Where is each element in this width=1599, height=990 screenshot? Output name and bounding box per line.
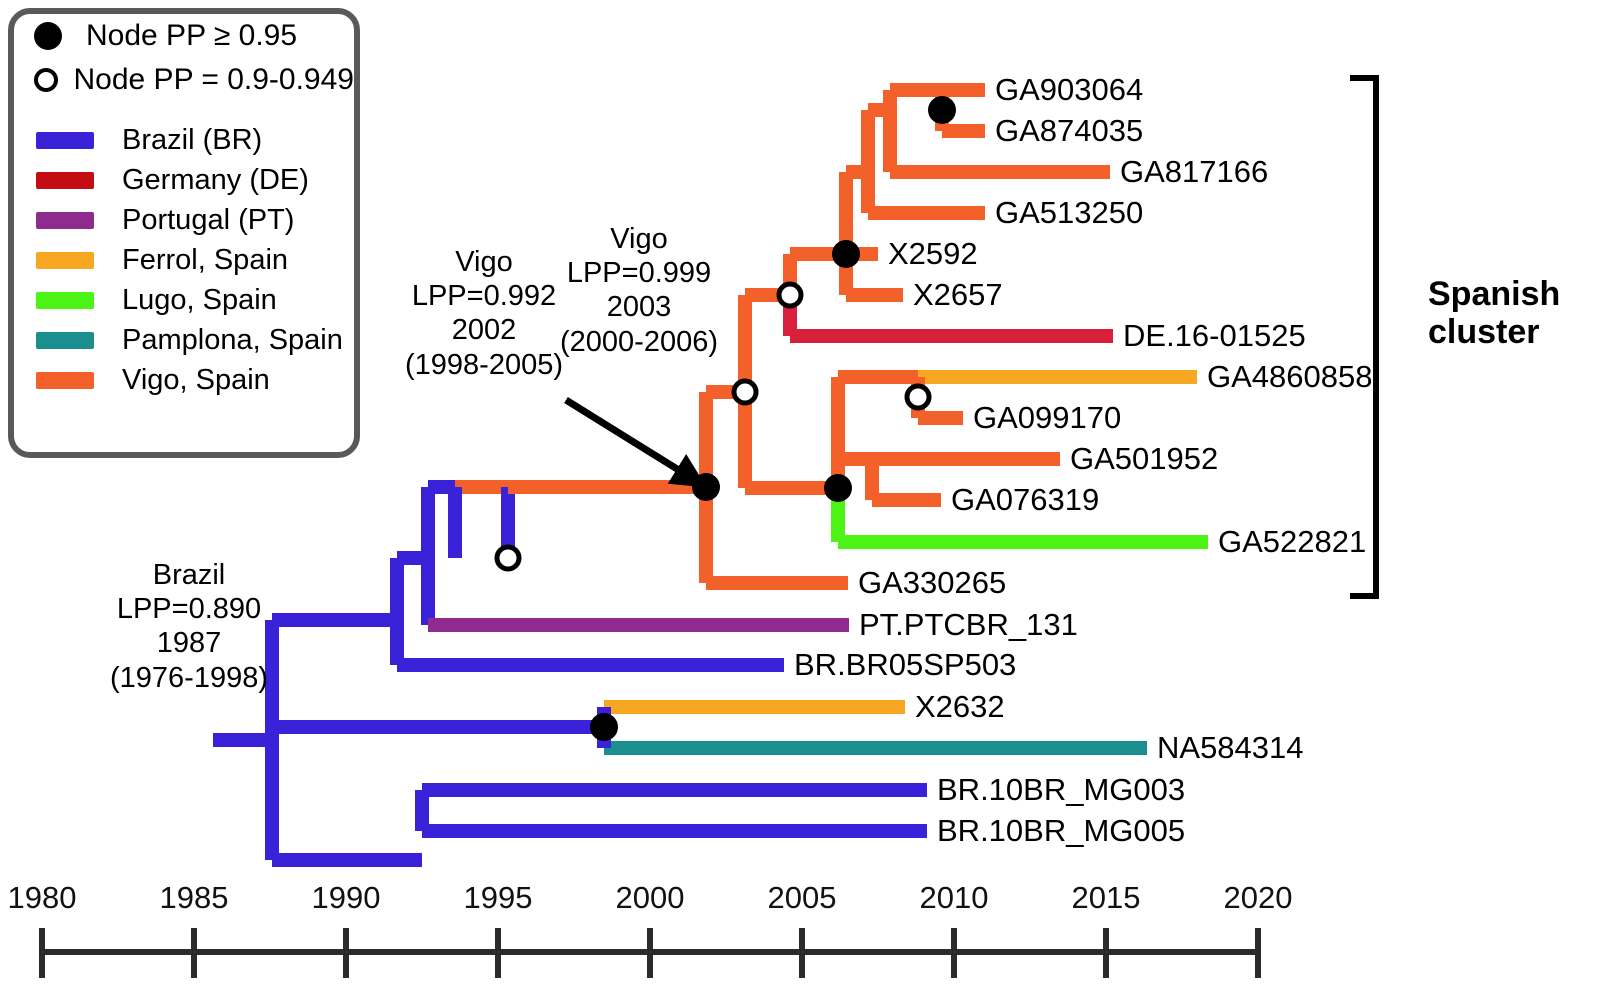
annotation-line: LPP=0.992 [405, 279, 563, 313]
legend-color-swatch [36, 372, 94, 389]
tip-label-GA522821: GA522821 [1218, 526, 1366, 557]
spanish-cluster-label: Spanishcluster [1428, 275, 1560, 351]
node-support-filled-icon [692, 473, 720, 501]
open-circle-icon [34, 68, 74, 92]
node-support-open-icon [779, 284, 801, 306]
legend-color-label: Vigo, Spain [122, 364, 270, 397]
tip-label-GA903064: GA903064 [995, 74, 1143, 105]
node-support-filled-icon [832, 240, 860, 268]
annotation-line: Vigo [560, 222, 718, 256]
cluster-label-line: cluster [1428, 313, 1560, 351]
annotation-line: LPP=0.890 [110, 592, 268, 626]
legend-color-row: Lugo, Spain [14, 280, 354, 320]
legend-node-label-open: Node PP = 0.9-0.949 [74, 63, 355, 97]
time-axis-tick-label: 2020 [1213, 880, 1303, 916]
legend-color-row: Vigo, Spain [14, 360, 354, 400]
legend-color-swatch [36, 172, 94, 189]
time-axis-tick-label: 1990 [301, 880, 391, 916]
time-axis-tick-label: 2015 [1061, 880, 1151, 916]
spanish-cluster-bracket [1350, 78, 1376, 596]
annotation-line: (2000-2006) [560, 325, 718, 359]
tip-label-X2592: X2592 [888, 238, 978, 269]
tip-label-GA513250: GA513250 [995, 197, 1143, 228]
time-axis-tick-label: 2000 [605, 880, 695, 916]
annotation-line: 2002 [405, 313, 563, 347]
annotation-line: 2003 [560, 290, 718, 324]
tip-label-GA330265: GA330265 [858, 567, 1006, 598]
legend-panel: Node PP ≥ 0.95 Node PP = 0.9-0.949 Brazi… [8, 8, 360, 458]
legend-color-swatch [36, 332, 94, 349]
time-axis-tick-label: 2005 [757, 880, 847, 916]
cluster-label-line: Spanish [1428, 275, 1560, 313]
legend-node-label-filled: Node PP ≥ 0.95 [86, 19, 297, 53]
legend-color-swatch [36, 132, 94, 149]
tip-label-BR.BR05SP503: BR.BR05SP503 [794, 649, 1016, 680]
tip-label-GA817166: GA817166 [1120, 156, 1268, 187]
annotation-vigo-2002: VigoLPP=0.9922002(1998-2005) [405, 245, 563, 382]
annotation-line: LPP=0.999 [560, 256, 718, 290]
tip-label-GA4860858: GA4860858 [1207, 361, 1372, 392]
node-support-filled-icon [824, 474, 852, 502]
legend-color-label: Brazil (BR) [122, 124, 262, 157]
legend-node-row-open: Node PP = 0.9-0.949 [14, 58, 354, 102]
legend-color-swatch [36, 252, 94, 269]
legend-color-label: Portugal (PT) [122, 204, 294, 237]
annotation-arrow-icon [566, 400, 690, 477]
filled-circle-icon [34, 22, 86, 50]
legend-node-row-filled: Node PP ≥ 0.95 [14, 14, 354, 58]
figure-canvas: Node PP ≥ 0.95 Node PP = 0.9-0.949 Brazi… [0, 0, 1599, 990]
tip-label-GA076319: GA076319 [951, 484, 1099, 515]
tip-label-GA501952: GA501952 [1070, 443, 1218, 474]
annotation-line: Vigo [405, 245, 563, 279]
legend-color-swatch [36, 212, 94, 229]
legend-color-row: Portugal (PT) [14, 200, 354, 240]
legend-color-label: Pamplona, Spain [122, 324, 343, 357]
legend-color-swatch [36, 292, 94, 309]
legend-color-label: Ferrol, Spain [122, 244, 288, 277]
time-axis-tick-label: 1980 [0, 880, 87, 916]
legend-color-label: Germany (DE) [122, 164, 309, 197]
legend-color-row: Ferrol, Spain [14, 240, 354, 280]
annotation-line: (1976-1998) [110, 661, 268, 695]
tip-label-BR.10BR_MG005: BR.10BR_MG005 [937, 815, 1185, 846]
tip-label-NA584314: NA584314 [1157, 732, 1304, 763]
legend-color-row: Pamplona, Spain [14, 320, 354, 360]
annotation-brazil-1987: BrazilLPP=0.8901987(1976-1998) [110, 558, 268, 695]
node-support-open-icon [907, 386, 929, 408]
legend-color-row: Brazil (BR) [14, 120, 354, 160]
tip-label-GA874035: GA874035 [995, 115, 1143, 146]
annotation-vigo-2003: VigoLPP=0.9992003(2000-2006) [560, 222, 718, 359]
node-support-filled-icon [590, 713, 618, 741]
tip-label-BR.10BR_MG003: BR.10BR_MG003 [937, 774, 1185, 805]
annotation-line: (1998-2005) [405, 348, 563, 382]
tip-label-X2632: X2632 [915, 691, 1005, 722]
node-support-filled-icon [928, 96, 956, 124]
tip-label-PT.PTCBR_131: PT.PTCBR_131 [859, 609, 1078, 640]
time-axis-tick-label: 1985 [149, 880, 239, 916]
annotation-line: 1987 [110, 626, 268, 660]
annotation-line: Brazil [110, 558, 268, 592]
tip-label-GA099170: GA099170 [973, 402, 1121, 433]
node-support-open-icon [497, 547, 519, 569]
legend-color-row: Germany (DE) [14, 160, 354, 200]
tip-label-X2657: X2657 [913, 279, 1003, 310]
time-axis-tick-label: 1995 [453, 880, 543, 916]
tip-label-DE.16-01525: DE.16-01525 [1123, 320, 1306, 351]
time-axis-tick-label: 2010 [909, 880, 999, 916]
legend-color-label: Lugo, Spain [122, 284, 277, 317]
legend-color-list: Brazil (BR)Germany (DE)Portugal (PT)Ferr… [14, 120, 354, 400]
node-support-open-icon [734, 381, 756, 403]
